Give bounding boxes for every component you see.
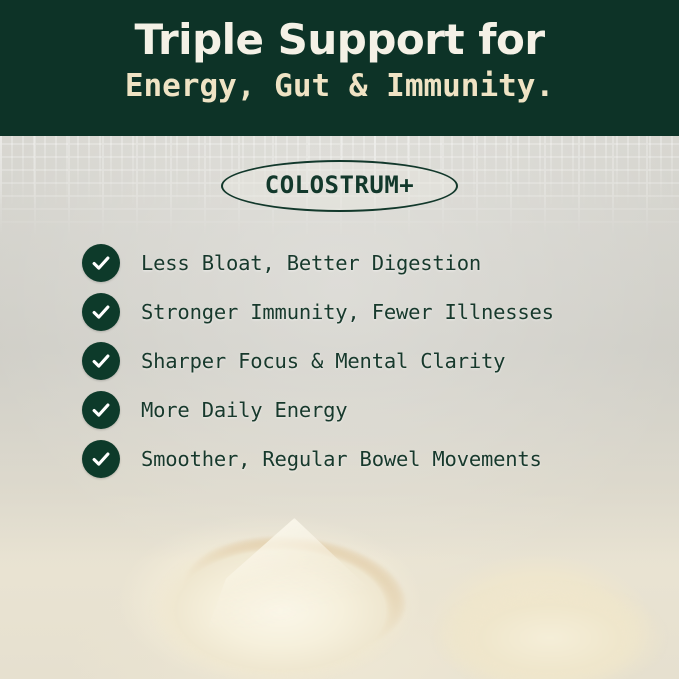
subheadline: Energy, Gut & Immunity. [0, 63, 679, 103]
header-banner: Triple Support for Energy, Gut & Immunit… [0, 0, 679, 136]
benefits-list: Less Bloat, Better Digestion Stronger Im… [82, 238, 642, 483]
benefit-label: Stronger Immunity, Fewer Illnesses [141, 300, 554, 324]
list-item: Less Bloat, Better Digestion [82, 238, 642, 287]
benefit-label: Sharper Focus & Mental Clarity [141, 349, 505, 373]
badge-container: COLOSTRUM+ [0, 160, 679, 212]
product-benefits-poster: Triple Support for Energy, Gut & Immunit… [0, 0, 679, 679]
check-icon [82, 293, 120, 331]
benefit-label: Smoother, Regular Bowel Movements [141, 447, 542, 471]
list-item: Sharper Focus & Mental Clarity [82, 336, 642, 385]
benefit-label: More Daily Energy [141, 398, 347, 422]
list-item: More Daily Energy [82, 385, 642, 434]
list-item: Stronger Immunity, Fewer Illnesses [82, 287, 642, 336]
check-icon [82, 342, 120, 380]
list-item: Smoother, Regular Bowel Movements [82, 434, 642, 483]
product-badge: COLOSTRUM+ [221, 160, 459, 212]
check-icon [82, 244, 120, 282]
headline: Triple Support for [0, 0, 679, 63]
check-icon [82, 391, 120, 429]
benefit-label: Less Bloat, Better Digestion [141, 251, 481, 275]
check-icon [82, 440, 120, 478]
